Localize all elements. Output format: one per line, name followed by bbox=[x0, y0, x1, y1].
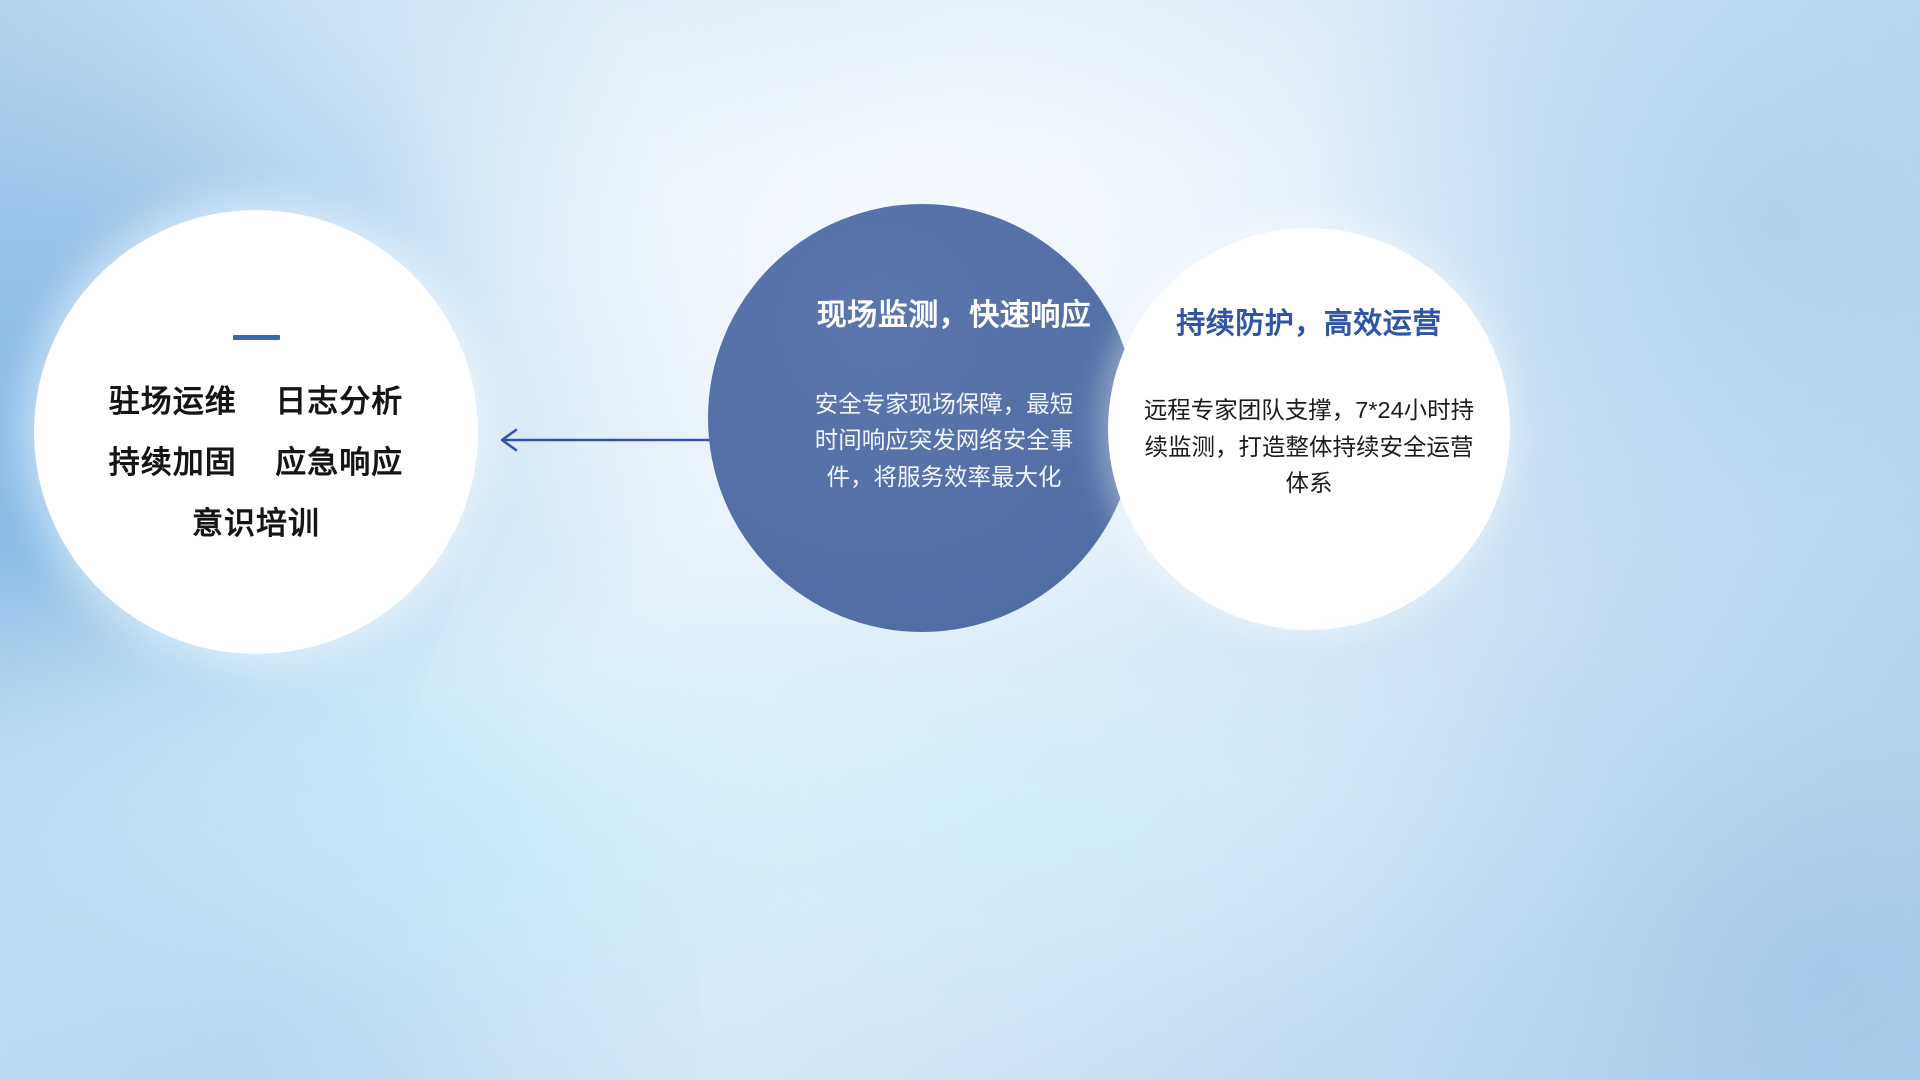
onsite-monitoring-heading: 现场监测，快速响应 bbox=[817, 290, 1092, 334]
continuous-protection-body: 远程专家团队支撑，7*24小时持续监测，打造整体持续安全运营体系 bbox=[1133, 392, 1485, 502]
onsite-monitoring-body: 安全专家现场保障，最短时间响应突发网络安全事件，将服务效率最大化 bbox=[810, 386, 1078, 495]
right-circle-content: 持续防护，高效运营 远程专家团队支撑，7*24小时持续监测，打造整体持续安全运营… bbox=[1108, 228, 1510, 630]
capability-line-3: 意识培训 bbox=[192, 508, 320, 539]
capability-line-2: 持续加固 应急响应 bbox=[109, 447, 403, 478]
capability-line-1: 驻场运维 日志分析 bbox=[109, 386, 403, 417]
mid-circle-content: 现场监测，快速响应 安全专家现场保障，最短时间响应突发网络安全事件，将服务效率最… bbox=[708, 204, 1136, 632]
divider-dash bbox=[233, 335, 280, 340]
left-circle-content: 驻场运维 日志分析 持续加固 应急响应 意识培训 bbox=[34, 210, 478, 654]
left-capability-circle[interactable]: 驻场运维 日志分析 持续加固 应急响应 意识培训 bbox=[34, 210, 478, 654]
onsite-monitoring-circle[interactable]: 现场监测，快速响应 安全专家现场保障，最短时间响应突发网络安全事件，将服务效率最… bbox=[708, 204, 1136, 632]
continuous-protection-circle[interactable]: 持续防护，高效运营 远程专家团队支撑，7*24小时持续监测，打造整体持续安全运营… bbox=[1108, 228, 1510, 630]
connector-arrow-left-icon bbox=[490, 418, 720, 462]
continuous-protection-heading: 持续防护，高效运营 bbox=[1176, 300, 1442, 342]
